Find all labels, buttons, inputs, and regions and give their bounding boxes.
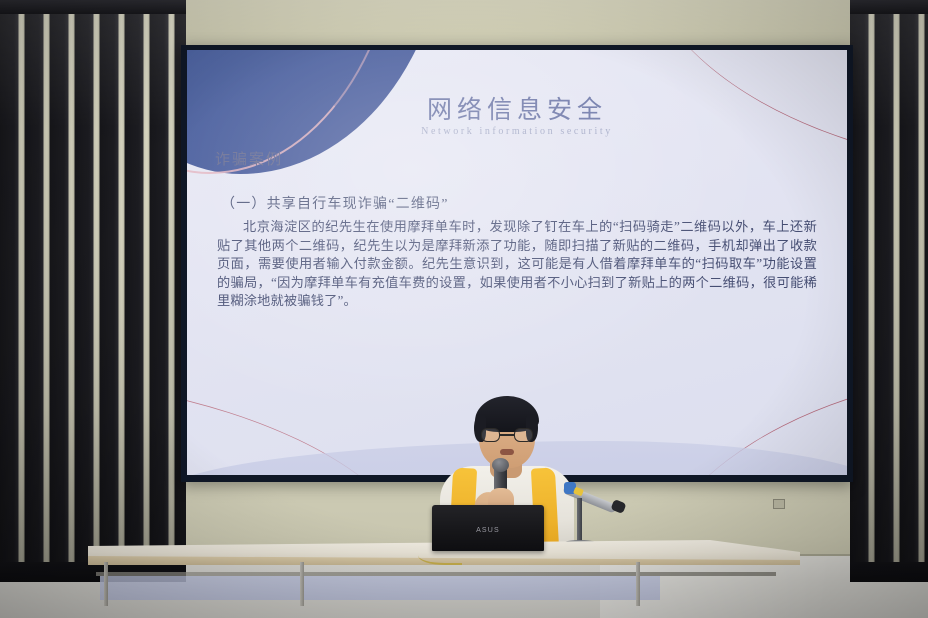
glasses-lens-left [481, 428, 500, 442]
slide-section-label: 诈骗案例 [215, 148, 283, 169]
handheld-microphone-head [492, 458, 509, 472]
acoustic-slat-panel-right [850, 0, 928, 580]
table-leg-right [636, 562, 640, 606]
slat-top-trim-left [0, 0, 186, 14]
table-rail [96, 572, 776, 576]
lecture-room-photo: 网络信息安全 Network information security 诈骗案例… [0, 0, 928, 618]
slide-subtitle: Network information security [187, 126, 847, 137]
slide-case-heading: （一）共享自行车现诈骗“二维码” [221, 193, 449, 213]
table-modesty-panel [100, 576, 660, 600]
acoustic-slat-panel-left [0, 0, 186, 580]
table-leg-left [104, 562, 108, 606]
wall-outlet [773, 499, 785, 509]
slide-title: 网络信息安全 [187, 90, 847, 126]
desk-microphone-pole [577, 498, 582, 544]
table-leg-mid [300, 562, 304, 606]
presenter-mouth [500, 449, 514, 455]
laptop-brand-logo: ASUS [476, 527, 500, 534]
slide-body-text: 北京海淀区的纪先生在使用摩拜单车时，发现除了钉在车上的“扫码骑走”二维码以外，车… [217, 218, 817, 311]
slat-top-trim-right [850, 0, 928, 14]
glasses-bridge [500, 434, 514, 436]
slat-base-right [850, 562, 928, 582]
presenter-glasses [481, 428, 533, 442]
glasses-lens-right [514, 428, 533, 442]
laptop: ASUS [432, 505, 544, 551]
